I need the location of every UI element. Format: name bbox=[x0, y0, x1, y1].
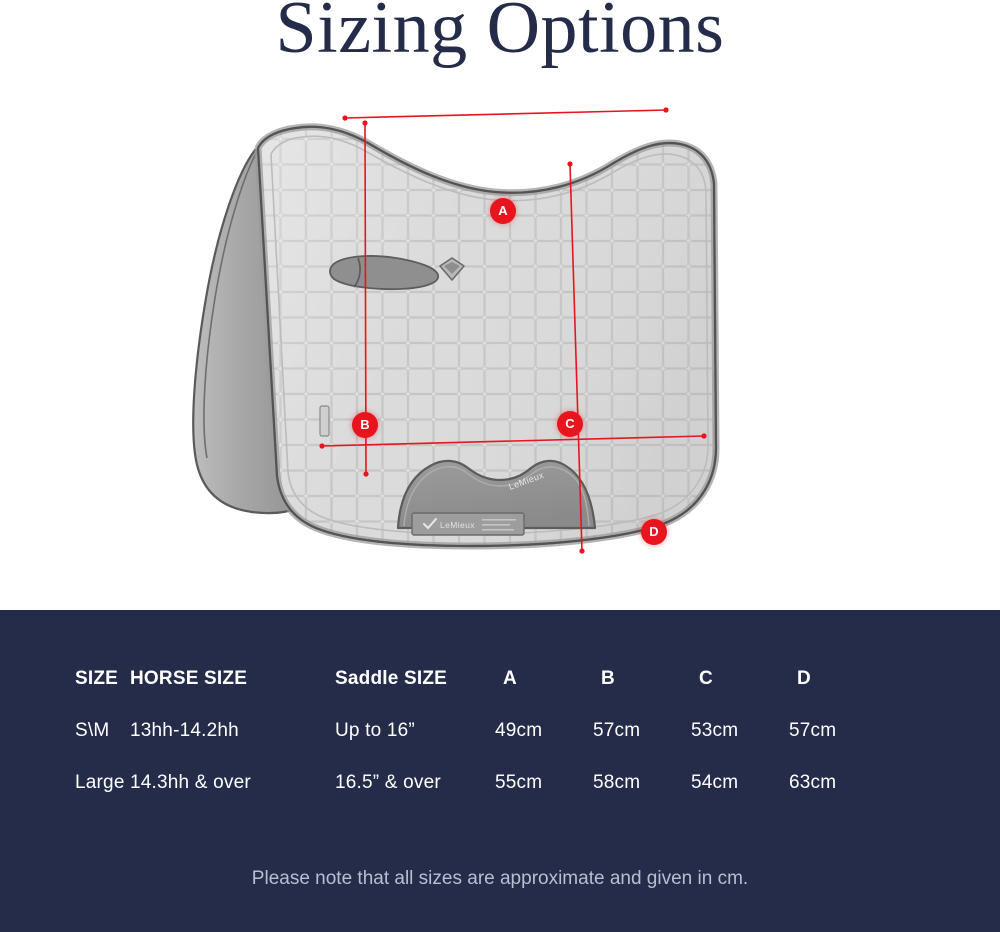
column-header-d: D bbox=[789, 668, 887, 690]
cell-size: S\M bbox=[0, 720, 130, 742]
cell-d: 63cm bbox=[789, 772, 887, 794]
size-table: SIZE HORSE SIZE Saddle SIZE A B C D S\M … bbox=[0, 668, 1000, 824]
sizing-options-page: Sizing Options bbox=[0, 0, 1000, 932]
table-row: S\M 13hh-14.2hh Up to 16” 49cm 57cm 53cm… bbox=[0, 720, 1000, 772]
column-header-saddle-size: Saddle SIZE bbox=[335, 668, 495, 690]
column-header-size: SIZE bbox=[0, 668, 130, 690]
sizing-note: Please note that all sizes are approxima… bbox=[0, 868, 1000, 890]
measure-badge-d: D bbox=[641, 519, 667, 545]
saddle-pad-diagram: LeMieux LeMieux bbox=[0, 88, 1000, 610]
pad-side-label bbox=[320, 406, 329, 436]
cell-b: 57cm bbox=[593, 720, 691, 742]
cell-a: 55cm bbox=[495, 772, 593, 794]
size-table-panel: SIZE HORSE SIZE Saddle SIZE A B C D S\M … bbox=[0, 610, 1000, 932]
column-header-horse-size: HORSE SIZE bbox=[130, 668, 335, 690]
cell-a: 49cm bbox=[495, 720, 593, 742]
column-header-a: A bbox=[495, 668, 593, 690]
page-title: Sizing Options bbox=[0, 0, 1000, 76]
cell-saddle-size: 16.5” & over bbox=[335, 772, 495, 794]
cell-saddle-size: Up to 16” bbox=[335, 720, 495, 742]
page-title-area: Sizing Options bbox=[0, 0, 1000, 80]
table-header-row: SIZE HORSE SIZE Saddle SIZE A B C D bbox=[0, 668, 1000, 720]
measure-badge-b: B bbox=[352, 412, 378, 438]
column-header-b: B bbox=[593, 668, 691, 690]
cell-d: 57cm bbox=[789, 720, 887, 742]
measure-line-a bbox=[345, 110, 666, 118]
cell-horse-size: 14.3hh & over bbox=[130, 772, 335, 794]
cell-c: 54cm bbox=[691, 772, 789, 794]
column-header-c: C bbox=[691, 668, 789, 690]
cell-c: 53cm bbox=[691, 720, 789, 742]
cell-b: 58cm bbox=[593, 772, 691, 794]
cell-horse-size: 13hh-14.2hh bbox=[130, 720, 335, 742]
svg-text:LeMieux: LeMieux bbox=[440, 520, 475, 530]
cell-size: Large bbox=[0, 772, 130, 794]
measure-badge-c: C bbox=[557, 411, 583, 437]
table-row: Large 14.3hh & over 16.5” & over 55cm 58… bbox=[0, 772, 1000, 824]
measure-badge-a: A bbox=[490, 198, 516, 224]
